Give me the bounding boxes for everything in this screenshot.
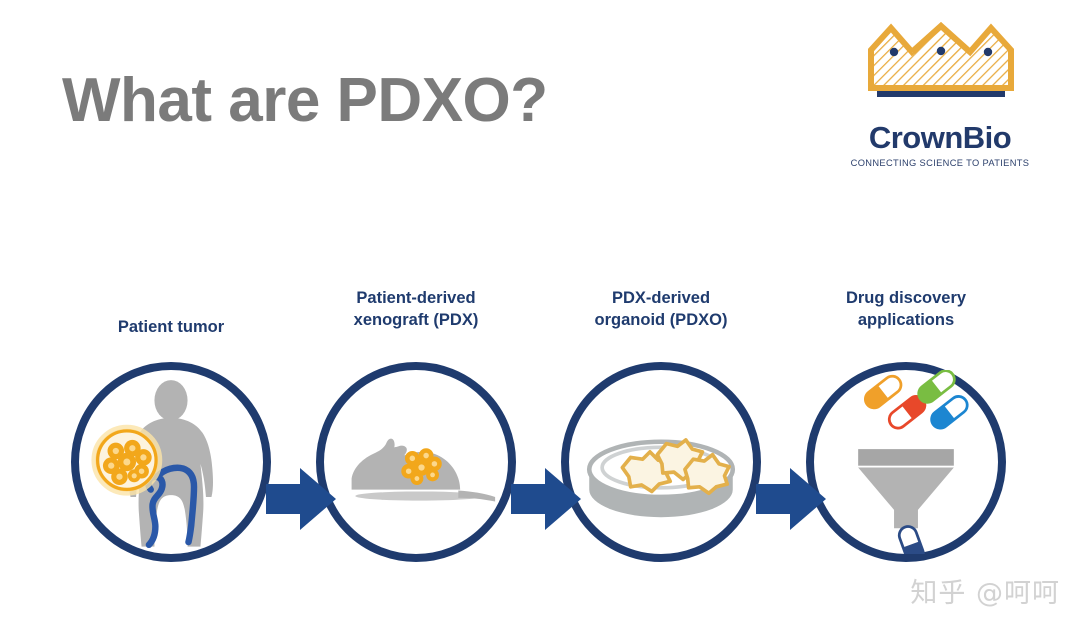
step-label-drug-discovery: Drug discovery applications xyxy=(783,288,1029,332)
crown-icon xyxy=(867,22,1015,100)
capsule-navy xyxy=(897,524,926,554)
step-label-pdx: Patient-derived xenograft (PDX) xyxy=(293,288,539,332)
page-title: What are PDXO? xyxy=(62,68,548,133)
mouse-xenograft-icon xyxy=(324,370,508,554)
crown-base-bar xyxy=(877,91,1005,97)
crownbio-logo: CrownBio CONNECTING SCIENCE TO PATIENTS xyxy=(845,22,1035,167)
funnel-pills-icon xyxy=(814,370,998,554)
capsule-orange xyxy=(862,373,905,412)
funnel xyxy=(858,449,954,528)
crown-dot-center xyxy=(937,47,945,55)
arrow-step2-to-step3 xyxy=(509,462,583,536)
pdxo-workflow-diagram: Patient tumor xyxy=(0,270,1080,590)
workflow-step-patient-tumor: Patient tumor xyxy=(48,270,294,580)
arrow-step3-to-step4 xyxy=(754,462,828,536)
step-circle-pdxo xyxy=(561,362,761,562)
crown-dot-right xyxy=(984,48,992,56)
zhihu-watermark: 知乎 @呵呵 xyxy=(910,571,1060,610)
step-circle-drug-discovery xyxy=(806,362,1006,562)
arrow-step1-to-step2 xyxy=(264,462,338,536)
slide-canvas: What are PDXO? xyxy=(0,0,1080,634)
step-circle-pdx xyxy=(316,362,516,562)
step-label-pdxo: PDX-derived organoid (PDXO) xyxy=(538,288,784,332)
logo-brand-text: CrownBio xyxy=(845,122,1035,153)
patient-tumor-icon xyxy=(79,370,263,554)
step-circle-patient-tumor xyxy=(71,362,271,562)
crown-dot-left xyxy=(890,48,898,56)
petri-dish-organoid-icon xyxy=(569,370,753,554)
step-label-patient-tumor: Patient tumor xyxy=(48,317,294,339)
logo-tagline-text: CONNECTING SCIENCE TO PATIENTS xyxy=(845,158,1035,168)
